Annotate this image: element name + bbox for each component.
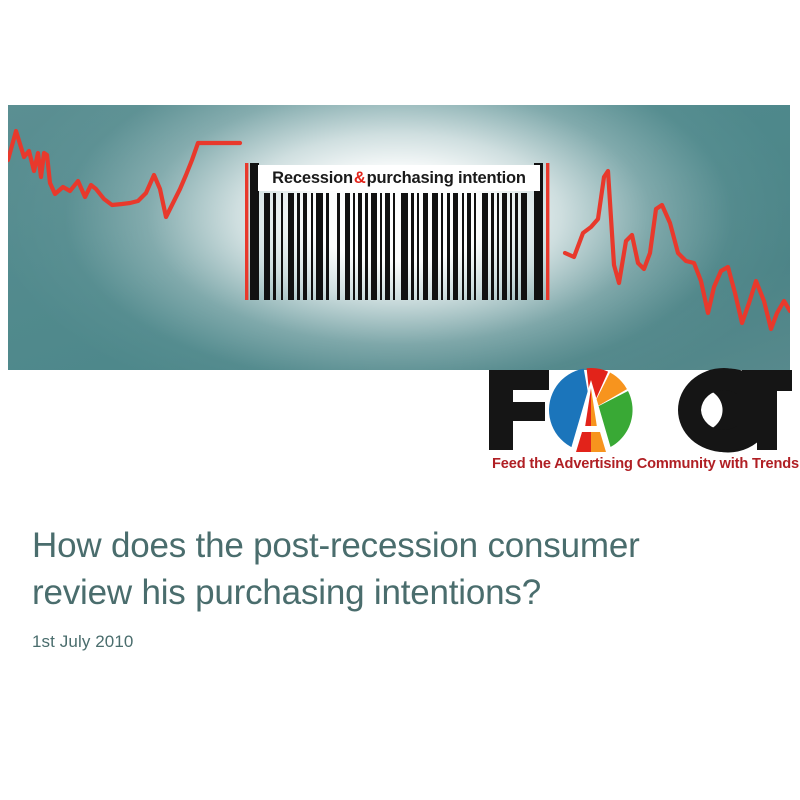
page-title: How does the post-recession consumer rev… bbox=[32, 522, 752, 616]
fact-tagline: Feed the Advertising Community with Tren… bbox=[492, 456, 792, 472]
barcode-guard-right bbox=[546, 163, 549, 300]
recession-banner: Recession & purchasing intention bbox=[8, 105, 790, 370]
barcode-caption-suffix: purchasing intention bbox=[367, 169, 526, 188]
fact-wordmark bbox=[487, 366, 792, 454]
logo-letter-a-mark bbox=[542, 366, 632, 454]
fact-logo: Feed the Advertising Community with Tren… bbox=[487, 366, 792, 478]
barcode-caption-ampersand: & bbox=[353, 169, 367, 188]
page-date: 1st July 2010 bbox=[32, 632, 752, 652]
title-block: How does the post-recession consumer rev… bbox=[32, 522, 752, 652]
chart-line-right bbox=[565, 171, 790, 329]
barcode-guard-left bbox=[245, 163, 248, 300]
barcode-caption-prefix: Recession bbox=[272, 169, 353, 188]
chart-line-left bbox=[8, 131, 240, 217]
barcode-caption: Recession & purchasing intention bbox=[258, 165, 540, 191]
barcode-graphic: Recession & purchasing intention bbox=[238, 163, 560, 300]
logo-letter-f bbox=[489, 370, 549, 450]
